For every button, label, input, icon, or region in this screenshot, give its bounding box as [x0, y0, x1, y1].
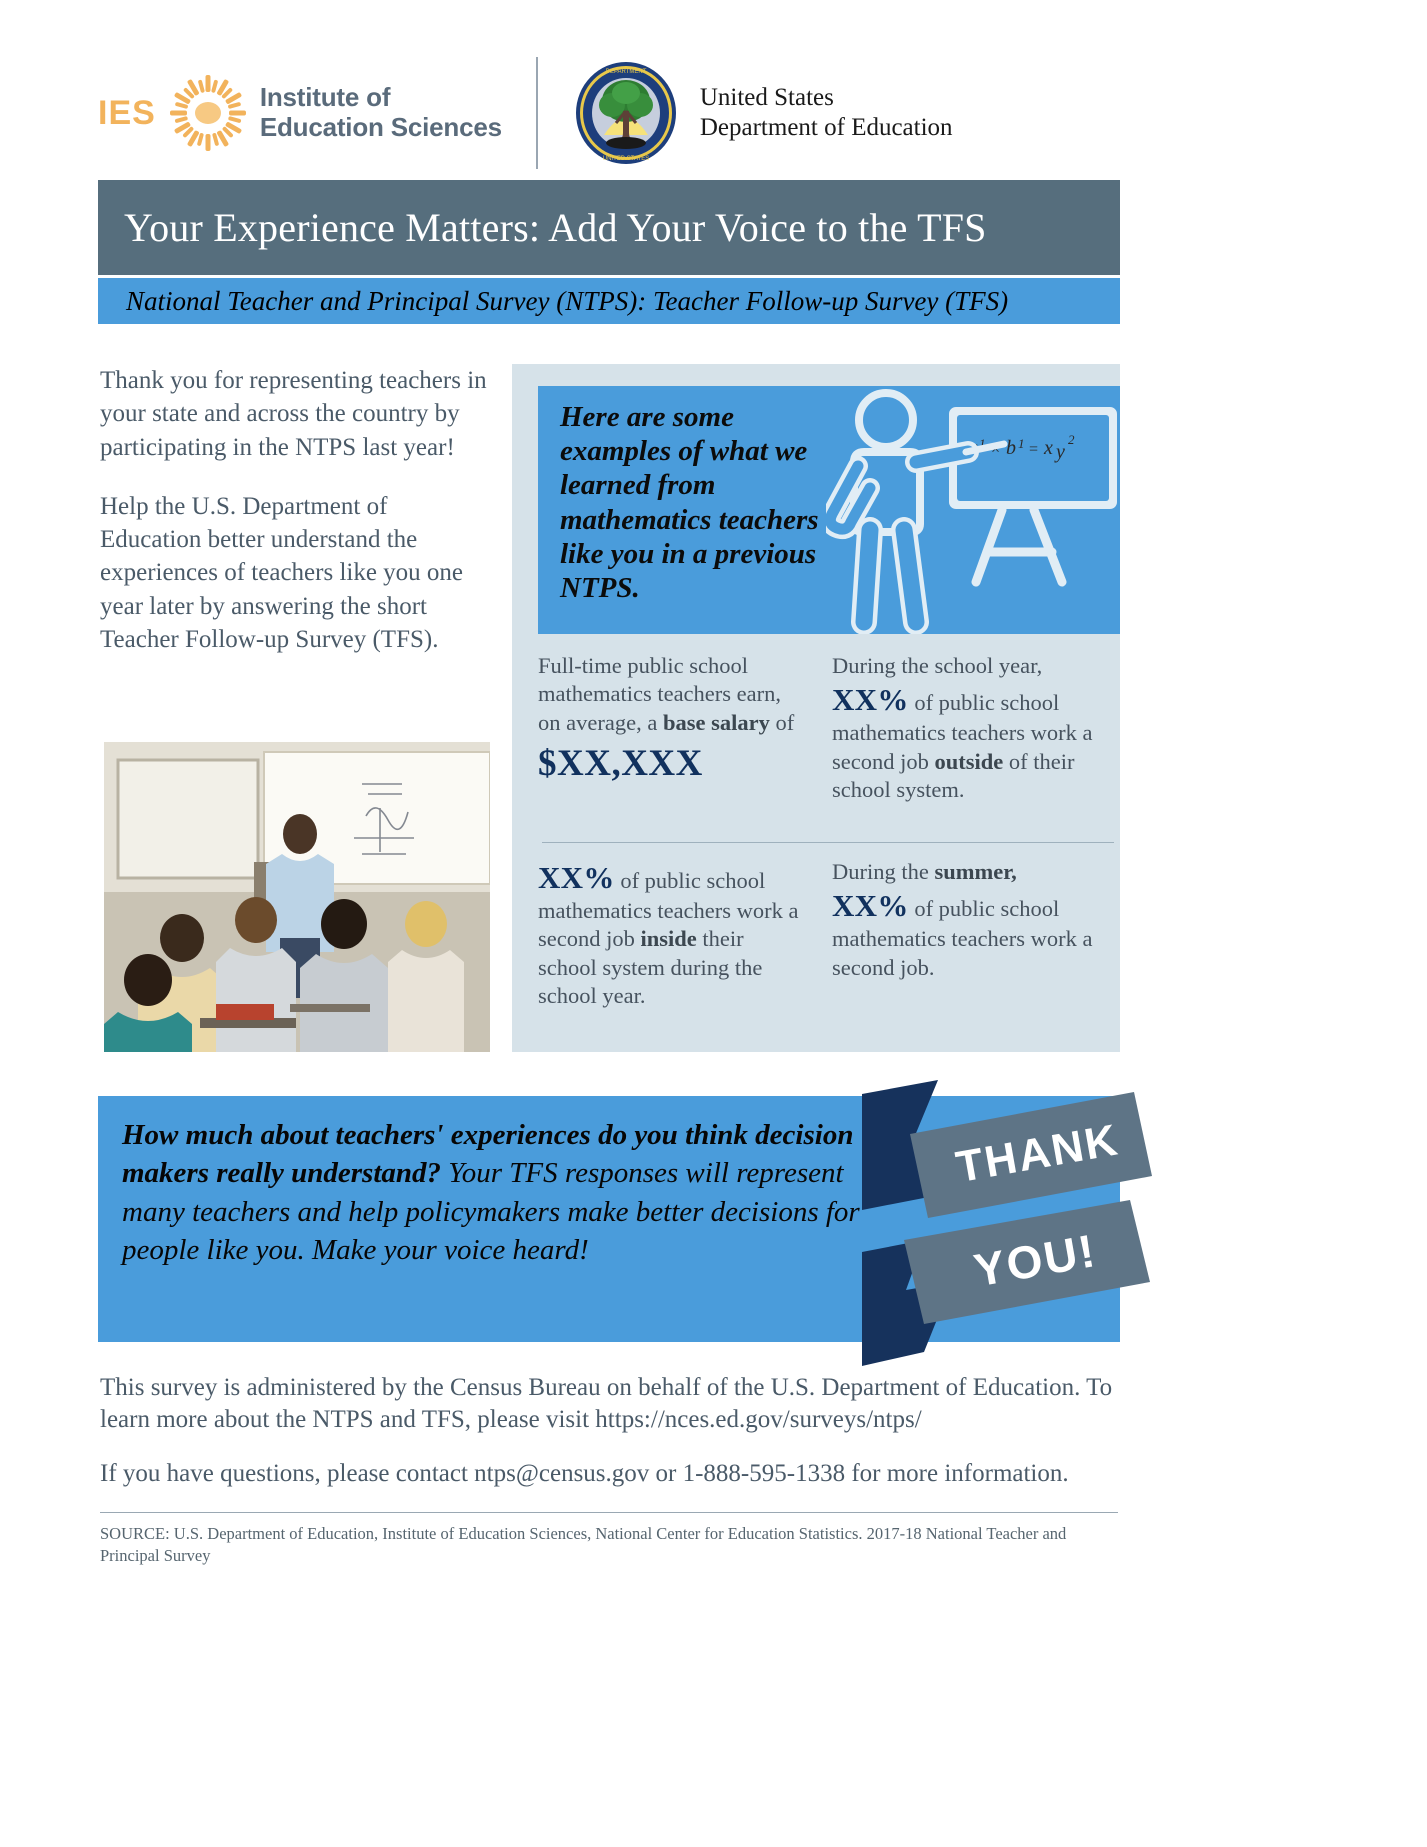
stat-summer-value: XX% — [832, 888, 909, 923]
flyer-page: IES — [0, 0, 1427, 1847]
stats-row-bottom: XX% of public school mathematics teacher… — [538, 842, 1120, 1032]
stat-second-job-outside: During the school year, XX% of public sc… — [820, 652, 1120, 842]
ed-name-line2: Department of Education — [700, 114, 953, 141]
logo-header: IES — [98, 52, 1108, 174]
dept-of-education-name: United States Department of Education — [700, 83, 953, 143]
stat-base-salary: Full-time public school mathematics teac… — [538, 652, 820, 842]
page-title: Your Experience Matters: Add Your Voice … — [98, 204, 987, 251]
classroom-photo — [104, 742, 490, 1052]
stats-divider — [542, 842, 1114, 843]
stat-base-salary-lead-after: of — [770, 710, 794, 735]
intro-paragraph-1: Thank you for representing teachers in y… — [100, 364, 490, 464]
ed-name-line1: United States — [700, 84, 834, 111]
svg-text:y: y — [1054, 441, 1065, 463]
stat-outside-lead: During the school year, — [832, 653, 1042, 678]
subtitle-bar: National Teacher and Principal Survey (N… — [98, 278, 1120, 324]
page-subtitle: National Teacher and Principal Survey (N… — [98, 286, 1008, 317]
intro-column: Thank you for representing teachers in y… — [100, 364, 490, 682]
source-note: SOURCE: U.S. Department of Education, In… — [100, 1523, 1110, 1567]
intro-paragraph-2: Help the U.S. Department of Education be… — [100, 490, 490, 656]
ies-name-line1: Institute of — [260, 82, 390, 112]
ies-name-line2: Education Sciences — [260, 112, 502, 142]
stats-heading-text: Here are some examples of what we learne… — [560, 400, 850, 605]
stat-inside-bold: inside — [640, 926, 696, 951]
header-divider — [536, 57, 538, 169]
stats-grid: Full-time public school mathematics teac… — [538, 652, 1120, 1040]
title-bar: Your Experience Matters: Add Your Voice … — [98, 180, 1120, 275]
stat-base-salary-value: $XX,XXX — [538, 741, 802, 788]
stat-summer-lead: During the — [832, 859, 934, 884]
footer-divider — [100, 1512, 1118, 1513]
department-of-education-seal-icon: DEPARTMENT UNITED STATES — [574, 61, 678, 165]
svg-text:UNITED STATES: UNITED STATES — [603, 156, 649, 162]
svg-text:x: x — [1043, 437, 1053, 459]
stat-inside-value: XX% — [538, 860, 615, 895]
stat-outside-value: XX% — [832, 682, 909, 717]
sunburst-icon — [170, 75, 246, 151]
ies-abbreviation: IES — [98, 94, 156, 133]
stat-second-job-summer: During the summer, XX% of public school … — [820, 858, 1120, 1032]
stat-outside-bold: outside — [934, 749, 1003, 774]
stat-second-job-inside: XX% of public school mathematics teacher… — [538, 858, 820, 1032]
svg-text:1: 1 — [1018, 436, 1025, 451]
ies-logo: IES — [98, 75, 502, 151]
call-to-action-text: How much about teachers' experiences do … — [122, 1116, 882, 1269]
svg-text:=: = — [1028, 441, 1039, 458]
stats-heading-block: Here are some examples of what we learne… — [538, 386, 1120, 634]
svg-text:DEPARTMENT: DEPARTMENT — [605, 69, 646, 75]
stat-base-salary-bold: base salary — [663, 710, 770, 735]
footer-admin-line: This survey is administered by the Censu… — [100, 1372, 1130, 1436]
thank-you-ribbon: THANK YOU! — [862, 1080, 1142, 1352]
dept-of-education-block: DEPARTMENT UNITED STATES United States D… — [574, 61, 953, 165]
stat-summer-lead-bold: summer, — [934, 859, 1016, 884]
footer-contact-line: If you have questions, please contact nt… — [100, 1458, 1130, 1490]
footer: This survey is administered by the Censu… — [100, 1372, 1130, 1567]
ies-full-name: Institute of Education Sciences — [260, 83, 502, 143]
svg-text:b: b — [1006, 437, 1016, 459]
svg-text:2: 2 — [1068, 432, 1075, 447]
stats-row-top: Full-time public school mathematics teac… — [538, 652, 1120, 842]
teacher-at-whiteboard-illustration: a 1 × b 1 = x y 2 — [826, 386, 1120, 634]
stats-box: Here are some examples of what we learne… — [512, 364, 1120, 1052]
